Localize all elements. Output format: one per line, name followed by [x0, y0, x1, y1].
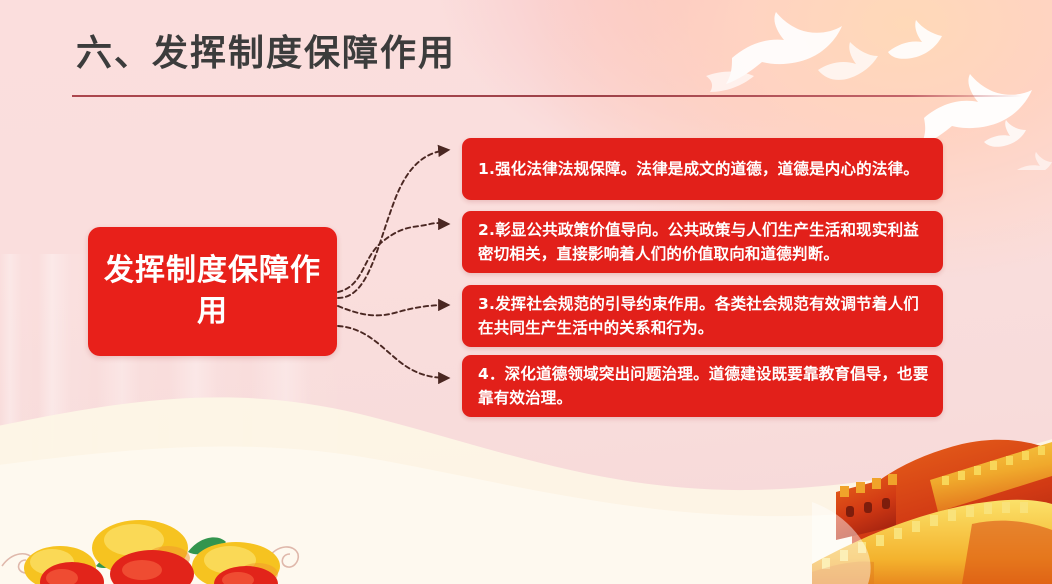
item-box-4[interactable]: 4．深化道德领域突出问题治理。道德建设既要靠教育倡导，也要靠有效治理。: [462, 355, 943, 417]
item-text-2: 2.彰显公共政策价值导向。公共政策与人们生产生活和现实利益密切相关，直接影响着人…: [478, 218, 929, 266]
item-box-3[interactable]: 3.发挥社会规范的引导约束作用。各类社会规范有效调节着人们在共同生产生活中的关系…: [462, 285, 943, 347]
item-text-3: 3.发挥社会规范的引导约束作用。各类社会规范有效调节着人们在共同生产生活中的关系…: [478, 292, 929, 340]
main-concept-box[interactable]: 发挥制度保障作用: [88, 227, 337, 356]
item-box-1[interactable]: 1.强化法律法规保障。法律是成文的道德，道德是内心的法律。: [462, 138, 943, 200]
main-concept-label: 发挥制度保障作用: [88, 251, 337, 331]
item-text-1: 1.强化法律法规保障。法律是成文的道德，道德是内心的法律。: [478, 157, 919, 181]
title-underline: [72, 95, 1022, 97]
item-text-4: 4．深化道德领域突出问题治理。道德建设既要靠教育倡导，也要靠有效治理。: [478, 362, 929, 410]
page-title: 六、发挥制度保障作用: [76, 24, 456, 76]
great-wall-icon: [812, 414, 1052, 584]
slide-canvas: 六、发挥制度保障作用 发挥制度保障作用 1.强化法律法规保障。法律是成文的道德，…: [0, 0, 1052, 584]
peony-flowers-icon: [0, 474, 300, 584]
item-box-2[interactable]: 2.彰显公共政策价值导向。公共政策与人们生产生活和现实利益密切相关，直接影响着人…: [462, 211, 943, 273]
